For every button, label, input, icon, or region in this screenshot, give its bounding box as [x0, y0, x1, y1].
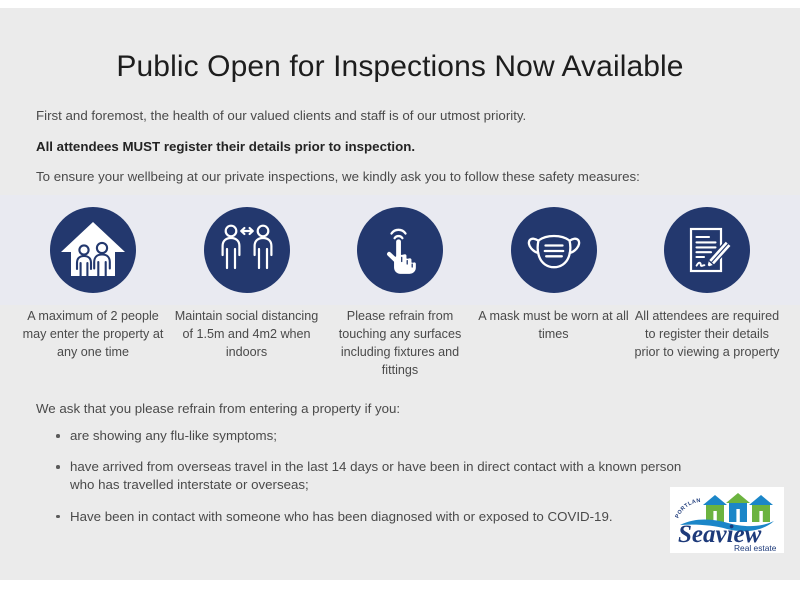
poster-root: Public Open for Inspections Now Availabl… [0, 0, 800, 600]
intro-line-3: To ensure your wellbeing at our private … [36, 169, 764, 186]
intro-line-1: First and foremost, the health of our va… [36, 108, 764, 125]
list-item: are showing any flu-like symptoms; [70, 427, 695, 445]
exclusions-lead: We ask that you please refrain from ente… [36, 400, 764, 417]
no-touching-hand-icon [357, 207, 443, 293]
face-mask-icon [511, 207, 597, 293]
measure-item-face-mask: A mask must be worn at all times [479, 195, 629, 395]
measure-caption: All attendees are required to register t… [631, 308, 783, 362]
measure-item-register: All attendees are required to register t… [632, 195, 782, 395]
measure-caption: Maintain social distancing of 1.5m and 4… [171, 308, 323, 362]
measure-caption: A maximum of 2 people may enter the prop… [17, 308, 169, 362]
measure-caption: Please refrain from touching any surface… [324, 308, 476, 380]
safety-measures-row: A maximum of 2 people may enter the prop… [0, 195, 800, 395]
measure-item-max-occupancy: A maximum of 2 people may enter the prop… [18, 195, 168, 395]
exclusions-list: are showing any flu-like symptoms; have … [36, 427, 764, 525]
list-item: Have been in contact with someone who ha… [70, 508, 695, 526]
list-item: have arrived from overseas travel in the… [70, 458, 695, 494]
page-title: Public Open for Inspections Now Availabl… [0, 8, 800, 84]
house-two-people-icon [50, 207, 136, 293]
measure-item-social-distancing: Maintain social distancing of 1.5m and 4… [172, 195, 322, 395]
register-form-pencil-icon [664, 207, 750, 293]
logo-tagline-text: Real estate [734, 543, 777, 553]
social-distancing-icon [204, 207, 290, 293]
intro-line-2: All attendees MUST register their detail… [36, 139, 764, 156]
measure-item-no-touching: Please refrain from touching any surface… [325, 195, 475, 395]
seaview-logo: PORTLAND Seaview Real estate [670, 487, 784, 553]
intro-block: First and foremost, the health of our va… [0, 84, 800, 186]
measure-caption: A mask must be worn at all times [478, 308, 630, 344]
